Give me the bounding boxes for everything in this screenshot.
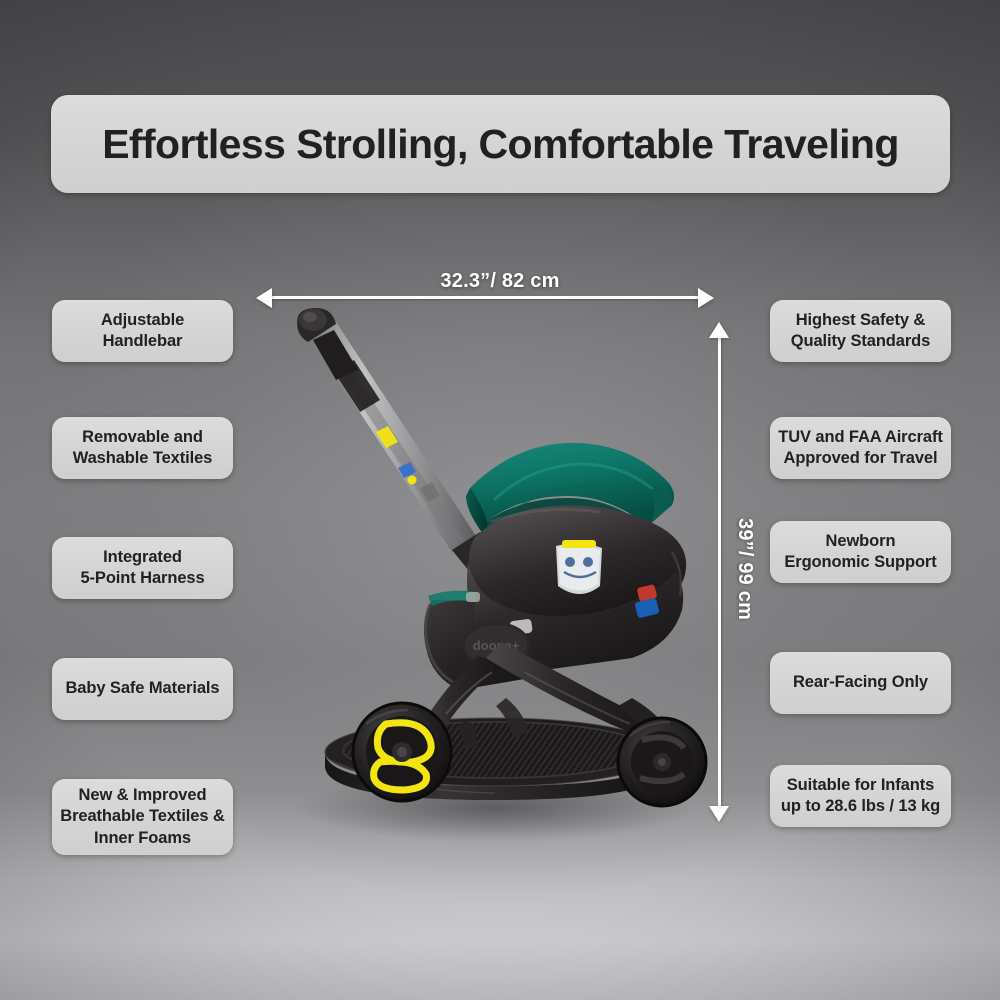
- feature-rear-facing-only[interactable]: Rear-Facing Only: [770, 652, 951, 714]
- height-dimension-line: [718, 336, 721, 810]
- feature-label: Adjustable Handlebar: [101, 310, 184, 353]
- feature-label: Highest Safety & Quality Standards: [791, 310, 931, 353]
- safety-label: [556, 540, 602, 594]
- feature-label: Removable and Washable Textiles: [73, 427, 213, 470]
- feature-label: Integrated 5-Point Harness: [80, 547, 204, 590]
- product-feature-graphic: doona+: [0, 0, 1000, 1000]
- arrow-up-icon: [709, 322, 729, 338]
- feature-tuv-faa-approved[interactable]: TUV and FAA Aircraft Approved for Travel: [770, 417, 951, 479]
- feature-highest-safety-standards[interactable]: Highest Safety & Quality Standards: [770, 300, 951, 362]
- feature-label: Suitable for Infants up to 28.6 lbs / 13…: [781, 775, 940, 818]
- feature-label: Rear-Facing Only: [793, 672, 928, 693]
- feature-label: Baby Safe Materials: [65, 678, 219, 699]
- feature-infant-weight-limit[interactable]: Suitable for Infants up to 28.6 lbs / 13…: [770, 765, 951, 827]
- page-title-text: Effortless Strolling, Comfortable Travel…: [102, 124, 899, 165]
- feature-label: Newborn Ergonomic Support: [784, 531, 936, 574]
- feature-integrated-harness[interactable]: Integrated 5-Point Harness: [52, 537, 233, 599]
- width-dimension-line: [266, 296, 702, 299]
- rear-wheel: [618, 718, 706, 806]
- feature-label: TUV and FAA Aircraft Approved for Travel: [778, 427, 943, 470]
- width-dimension-label: 32.3”/ 82 cm: [0, 270, 1000, 293]
- feature-adjustable-handlebar[interactable]: Adjustable Handlebar: [52, 300, 233, 362]
- arrow-down-icon: [709, 806, 729, 822]
- page-title: Effortless Strolling, Comfortable Travel…: [51, 95, 950, 193]
- front-wheel: [353, 703, 451, 801]
- stroller-product-image: doona+: [280, 300, 710, 840]
- feature-newborn-ergonomic-support[interactable]: Newborn Ergonomic Support: [770, 521, 951, 583]
- feature-baby-safe-materials[interactable]: Baby Safe Materials: [52, 658, 233, 720]
- feature-breathable-textiles-foams[interactable]: New & Improved Breathable Textiles & Inn…: [52, 779, 233, 855]
- feature-label: New & Improved Breathable Textiles & Inn…: [60, 785, 225, 849]
- height-dimension-label: 39”/ 99 cm: [733, 518, 756, 620]
- feature-removable-washable-textiles[interactable]: Removable and Washable Textiles: [52, 417, 233, 479]
